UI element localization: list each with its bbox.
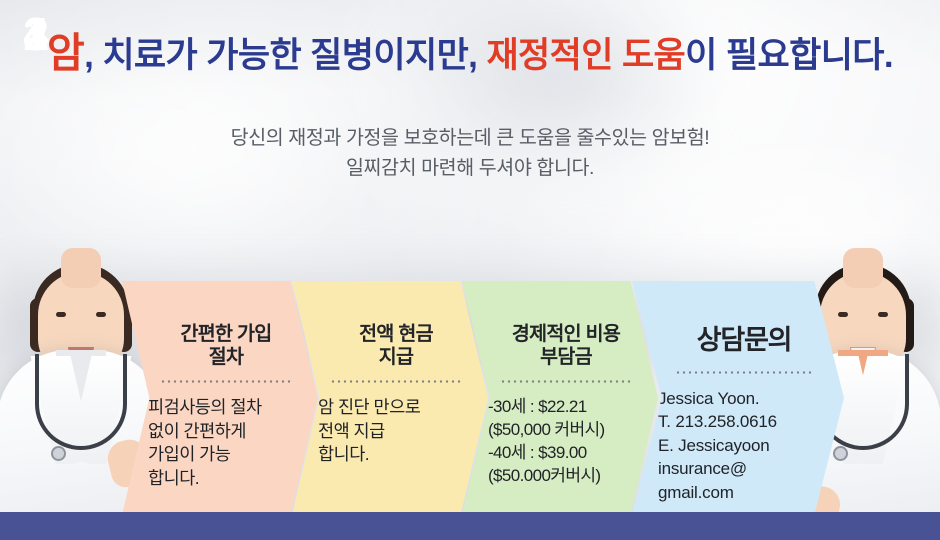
card-4-dotted-divider [675, 371, 813, 374]
card-3-body: -30세 : $22.21 ($50,000 커버시) -40세 : $39.0… [488, 396, 644, 488]
card-1-dotted-divider [160, 380, 292, 383]
subtitle-line-2: 일찌감치 마련해 두셔야 합니다. [0, 153, 940, 183]
footer-bar [0, 512, 940, 540]
card-1-body: 피검사등의 절차 없이 간편하게 가입이 가능 합니다. [148, 396, 304, 491]
doctor-right-neck [843, 248, 883, 288]
step-badge-4: 4 [0, 0, 72, 72]
doctor-right-eye-right [878, 312, 888, 317]
card-4-title: 상담문의 [658, 323, 830, 357]
card-2-title: 전액 현금 지급 [318, 323, 474, 369]
subtitle-line-1: 당신의 재정과 가정을 보호하는데 큰 도움을 줄수있는 암보험! [0, 123, 940, 153]
benefit-card-1[interactable]: 간편한 가입 절차 피검사등의 절차 없이 간편하게 가입이 가능 합니다. [122, 281, 318, 515]
card-2-body: 암 진단 만으로 전액 지급 합니다. [318, 396, 474, 467]
card-3-dotted-divider [500, 380, 632, 383]
subtitle: 당신의 재정과 가정을 보호하는데 큰 도움을 줄수있는 암보험! 일찌감치 마… [0, 123, 940, 183]
benefit-card-4-contact[interactable]: 상담문의 Jessica Yoon. T. 213.258.0616 E. Je… [632, 281, 844, 515]
card-3-title: 경제적인 비용 부담금 [488, 323, 644, 369]
benefit-card-2[interactable]: 전액 현금 지급 암 진단 만으로 전액 지급 합니다. [292, 281, 488, 515]
card-2-dotted-divider [330, 380, 462, 383]
poster-canvas: 암, 치료가 가능한 질병이지만, 재정적인 도움이 필요합니다. 당신의 재정… [0, 0, 940, 540]
doctor-left-eye-right [96, 312, 106, 317]
page-title: 암, 치료가 가능한 질병이지만, 재정적인 도움이 필요합니다. [0, 31, 940, 76]
stethoscope-icon [35, 354, 127, 450]
card-1-title: 간편한 가입 절차 [148, 323, 304, 369]
card-4-contact-details: Jessica Yoon. T. 213.258.0616 E. Jessica… [658, 387, 830, 504]
benefit-card-3[interactable]: 경제적인 비용 부담금 -30세 : $22.21 ($50,000 커버시) … [462, 281, 658, 515]
stethoscope-bell [51, 446, 66, 461]
headline-segment-four: 이 필요합니다. [685, 36, 893, 75]
doctor-left-eye-left [56, 312, 66, 317]
benefit-card-row: 간편한 가입 절차 피검사등의 절차 없이 간편하게 가입이 가능 합니다. 전… [122, 281, 840, 515]
headline-segment-two: , 치료가 가능한 질병이지만, [84, 36, 486, 75]
headline-keyword-financial-help: 재정적인 도움 [486, 36, 685, 75]
doctor-left-neck [61, 248, 101, 288]
